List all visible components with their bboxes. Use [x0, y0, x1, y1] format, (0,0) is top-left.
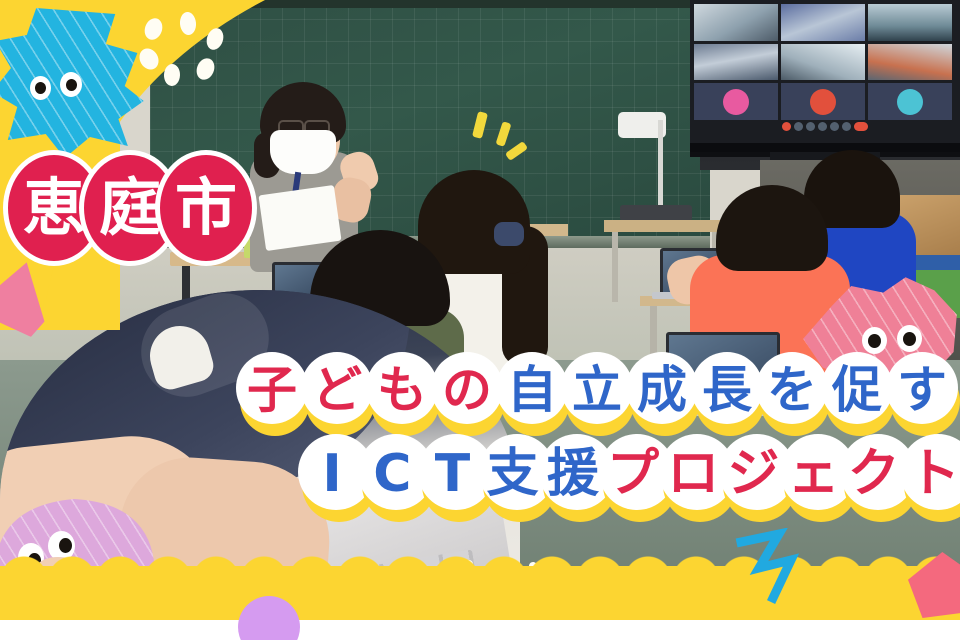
badge-char: 市	[160, 155, 252, 261]
desk-leg	[612, 232, 618, 302]
title-char-label: 立	[572, 365, 622, 415]
title-char: ジ	[719, 434, 787, 514]
video-tile-avatar	[868, 83, 952, 120]
face-mask	[270, 130, 336, 174]
title-char-label: も	[377, 365, 427, 415]
participant-avatar	[897, 89, 923, 115]
video-call-toolbar	[782, 122, 868, 131]
badge-char-label: 庭	[99, 177, 161, 239]
more-icon	[842, 122, 851, 131]
pupil	[35, 82, 46, 94]
title-char-label: 支	[487, 448, 539, 500]
title-char: 支	[479, 434, 547, 514]
student-hair	[716, 185, 828, 271]
title-char: ロ	[659, 434, 727, 514]
video-tile	[694, 4, 778, 41]
badge-char-label: 市	[175, 177, 237, 239]
participant-avatar	[810, 89, 836, 115]
pupil	[59, 538, 72, 553]
title-char: 援	[539, 434, 607, 514]
white-footer	[0, 620, 960, 640]
title-char: C	[358, 434, 426, 514]
title-char: す	[886, 352, 958, 428]
title-char-label: プ	[607, 448, 659, 500]
title-char: ト	[900, 434, 960, 514]
title-char-label: T	[435, 448, 470, 500]
title-char: ェ	[780, 434, 848, 514]
title-char-label: I	[322, 448, 341, 500]
title-char-label: ジ	[727, 448, 779, 500]
video-tile-avatar	[694, 83, 778, 120]
mic-icon	[782, 122, 791, 131]
title-char-label: ク	[848, 448, 900, 500]
title-char-label: す	[897, 365, 947, 415]
participants-icon	[806, 122, 815, 131]
pupil	[868, 334, 881, 348]
banner-canvas: JAPA	[0, 0, 960, 640]
video-tile	[694, 44, 778, 81]
title-char-label: の	[442, 365, 492, 415]
video-tile-avatar	[781, 83, 865, 120]
title-char-label: ど	[312, 365, 362, 415]
video-tile	[868, 44, 952, 81]
chat-icon	[818, 122, 827, 131]
hair-scrunchie	[494, 222, 524, 246]
title-char: 促	[821, 352, 893, 428]
title-char: 立	[561, 352, 633, 428]
city-badge: 恵 庭 市	[8, 152, 236, 264]
end-call-icon	[854, 122, 868, 131]
document-camera-base	[620, 205, 692, 221]
blob-eye	[862, 327, 887, 354]
video-tile	[868, 4, 952, 41]
camera-icon	[794, 122, 803, 131]
title-char: ど	[301, 352, 373, 428]
video-tile	[781, 44, 865, 81]
title-char: 長	[691, 352, 763, 428]
title-char: T	[418, 434, 486, 514]
title-char: の	[431, 352, 503, 428]
title-char-label: C	[373, 448, 411, 500]
title-char-label: ェ	[788, 448, 840, 500]
video-tile	[781, 4, 865, 41]
pupil	[903, 332, 916, 346]
pupil	[66, 79, 77, 91]
share-screen-icon	[830, 122, 839, 131]
title-char: 自	[496, 352, 568, 428]
main-title: 子 ど も の 自 立 成 長 を 促 す I C T 支 援 プ ロ ジ ェ …	[236, 352, 960, 514]
wall-display	[690, 0, 960, 157]
title-char-label: 成	[637, 365, 687, 415]
document-camera-arm	[658, 120, 663, 215]
title-char: プ	[599, 434, 667, 514]
title-char-label: 促	[832, 365, 882, 415]
title-line-2: I C T 支 援 プ ロ ジ ェ ク ト	[298, 434, 960, 514]
title-char-label: 子	[247, 365, 297, 415]
video-conference-grid	[694, 4, 952, 120]
title-char-label: を	[767, 365, 817, 415]
title-char-label: 援	[547, 448, 599, 500]
participant-avatar	[723, 89, 749, 115]
title-char: も	[366, 352, 438, 428]
title-char-label: ロ	[667, 448, 719, 500]
blob-eye	[30, 76, 51, 100]
title-line-1: 子 ど も の 自 立 成 長 を 促 す	[236, 352, 960, 428]
title-char: I	[298, 434, 366, 514]
blue-zigzag	[735, 528, 817, 608]
blob-eye	[897, 325, 922, 352]
title-char-label: 長	[702, 365, 752, 415]
title-char: 成	[626, 352, 698, 428]
title-char: 子	[236, 352, 308, 428]
badge-char-label: 恵	[23, 177, 85, 239]
blob-eye	[60, 72, 82, 97]
title-char-label: 自	[507, 365, 557, 415]
title-char-label: ト	[908, 448, 960, 500]
title-char: を	[756, 352, 828, 428]
title-char: ク	[840, 434, 908, 514]
